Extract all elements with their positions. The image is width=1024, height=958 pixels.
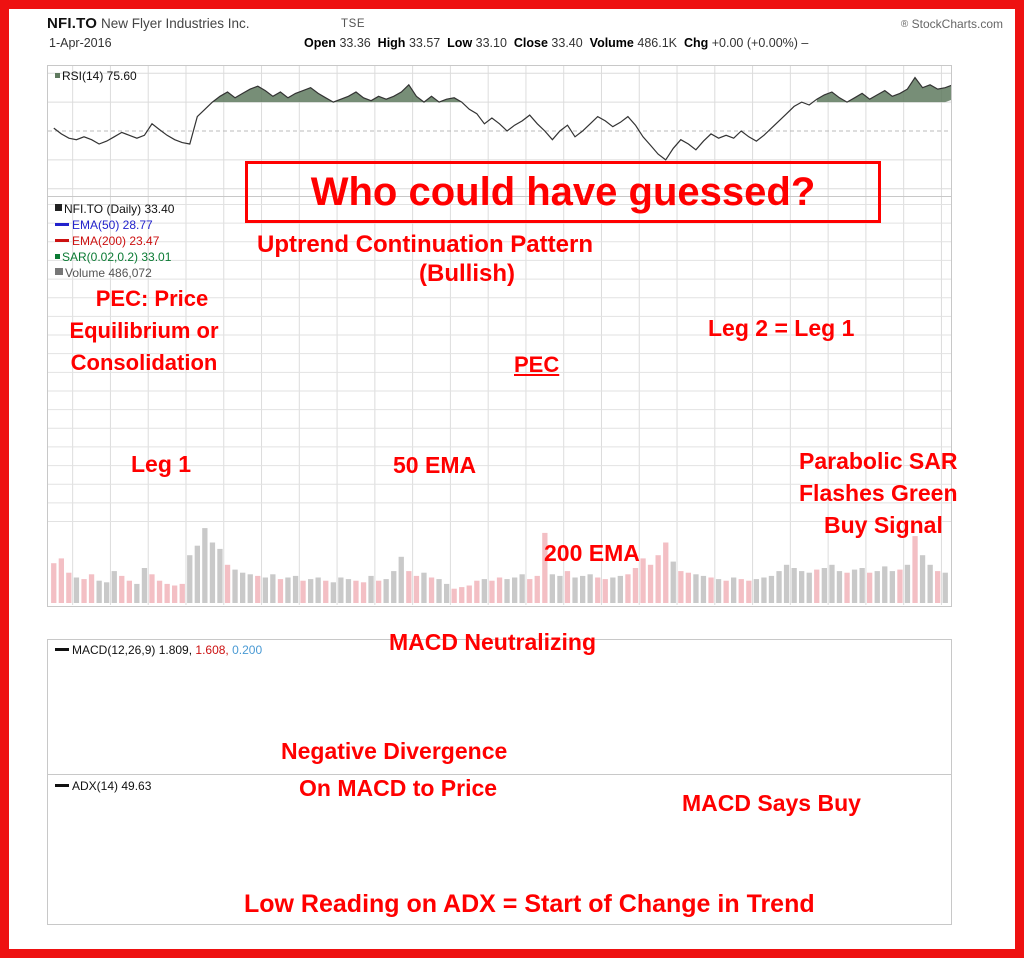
- adx-line-icon: [55, 784, 69, 787]
- sar-legend-text: SAR(0.02,0.2) 33.01: [62, 250, 171, 264]
- volume-legend-text: Volume 486,072: [65, 266, 152, 280]
- macd-line-icon: [55, 648, 69, 651]
- sar-annotation-line2: Flashes Green: [799, 481, 958, 506]
- pec-word-price: Price: [154, 286, 208, 311]
- macd-legend: MACD(12,26,9) 1.809, 1.608, 0.200: [55, 643, 262, 657]
- ema200-annotation: 200 EMA: [544, 541, 640, 566]
- sar-annotation-line1: Parabolic SAR: [799, 449, 958, 474]
- company-name: New Flyer Industries Inc.: [101, 16, 250, 31]
- pec-label-line1: PEC: Price: [47, 287, 257, 311]
- adx-legend: ADX(14) 49.63: [55, 779, 151, 793]
- low-label: Low: [447, 36, 472, 50]
- pec-label-line3: Consolidation: [33, 351, 255, 375]
- candlestick-icon: [55, 204, 62, 211]
- stockcharts-logo: ® StockCharts.com: [901, 17, 1003, 31]
- high-label: High: [378, 36, 406, 50]
- change-arrow-icon: –: [801, 36, 808, 50]
- date-axis-bottom: [47, 927, 952, 947]
- sar-dot-icon: [55, 254, 60, 259]
- volume-value: 486.1K: [637, 36, 677, 50]
- low-value: 33.10: [476, 36, 507, 50]
- open-label: Open: [304, 36, 336, 50]
- price-legend-sar: SAR(0.02,0.2) 33.01: [55, 250, 171, 264]
- ohlc-quote-line: Open 33.36 High 33.57 Low 33.10 Close 33…: [304, 36, 808, 50]
- exchange-label: TSE: [341, 18, 365, 30]
- volume-label: Volume: [590, 36, 634, 50]
- pec-label-line2: Equilibrium or: [33, 319, 255, 343]
- macd-neutralizing-label: MACD Neutralizing: [389, 630, 596, 655]
- chart-red-frame: NFI.TO New Flyer Industries Inc. TSE ® S…: [0, 0, 1024, 958]
- rsi-legend: RSI(14) 75.60: [55, 69, 137, 83]
- adx-low-reading-label: Low Reading on ADX = Start of Change in …: [244, 891, 815, 918]
- quote-date: 1-Apr-2016: [49, 36, 112, 50]
- change-value: +0.00 (+0.00%): [712, 36, 798, 50]
- price-plot: [48, 197, 951, 605]
- ema50-annotation: 50 EMA: [393, 453, 476, 478]
- uptrend-label-line1: Uptrend Continuation Pattern: [257, 232, 593, 258]
- chart-header: NFI.TO New Flyer Industries Inc. TSE ® S…: [9, 9, 1015, 55]
- price-legend-symbol: NFI.TO (Daily) 33.40: [55, 202, 174, 216]
- volume-bars-icon: [55, 268, 63, 275]
- headline-text: Who could have guessed?: [248, 164, 878, 220]
- price-legend-text: NFI.TO (Daily) 33.40: [64, 202, 174, 216]
- price-legend-volume: Volume 486,072: [55, 266, 152, 280]
- date-axis-top: [47, 609, 952, 629]
- close-value: 33.40: [551, 36, 582, 50]
- rsi-legend-text: RSI(14) 75.60: [62, 69, 137, 83]
- macd-legend-hist: 0.200: [232, 643, 262, 657]
- leg2-label: Leg 2 = Leg 1: [708, 316, 854, 341]
- price-legend-ema50: EMA(50) 28.77: [55, 218, 153, 232]
- ema50-legend-text: EMA(50) 28.77: [72, 218, 153, 232]
- price-panel: [47, 197, 952, 607]
- sar-annotation-line3: Buy Signal: [824, 513, 943, 538]
- leg1-label: Leg 1: [131, 452, 191, 477]
- headline-callout-box: Who could have guessed?: [245, 161, 881, 223]
- high-value: 33.57: [409, 36, 440, 50]
- macd-legend-main: MACD(12,26,9) 1.809,: [72, 643, 192, 657]
- ema50-line-icon: [55, 223, 69, 226]
- stockcharts-site: StockCharts.com: [912, 17, 1003, 31]
- close-label: Close: [514, 36, 548, 50]
- uptrend-label-line2: (Bullish): [419, 261, 515, 287]
- rsi-area-icon: [55, 73, 60, 78]
- macd-says-buy-label: MACD Says Buy: [682, 791, 861, 816]
- registered-mark: ®: [901, 19, 908, 30]
- negative-divergence-line2: On MACD to Price: [299, 776, 497, 801]
- pec-mid-label: PEC: [514, 353, 559, 377]
- chart-sheet: NFI.TO New Flyer Industries Inc. TSE ® S…: [9, 9, 1015, 949]
- pec-abbrev: PEC:: [96, 286, 149, 311]
- price-legend-ema200: EMA(200) 23.47: [55, 234, 159, 248]
- change-label: Chg: [684, 36, 708, 50]
- open-value: 33.36: [339, 36, 370, 50]
- ema200-line-icon: [55, 239, 69, 242]
- macd-legend-signal: 1.608,: [195, 643, 228, 657]
- ema200-legend-text: EMA(200) 23.47: [72, 234, 159, 248]
- adx-legend-text: ADX(14) 49.63: [72, 779, 151, 793]
- negative-divergence-line1: Negative Divergence: [281, 739, 507, 764]
- ticker-symbol: NFI.TO: [47, 15, 97, 32]
